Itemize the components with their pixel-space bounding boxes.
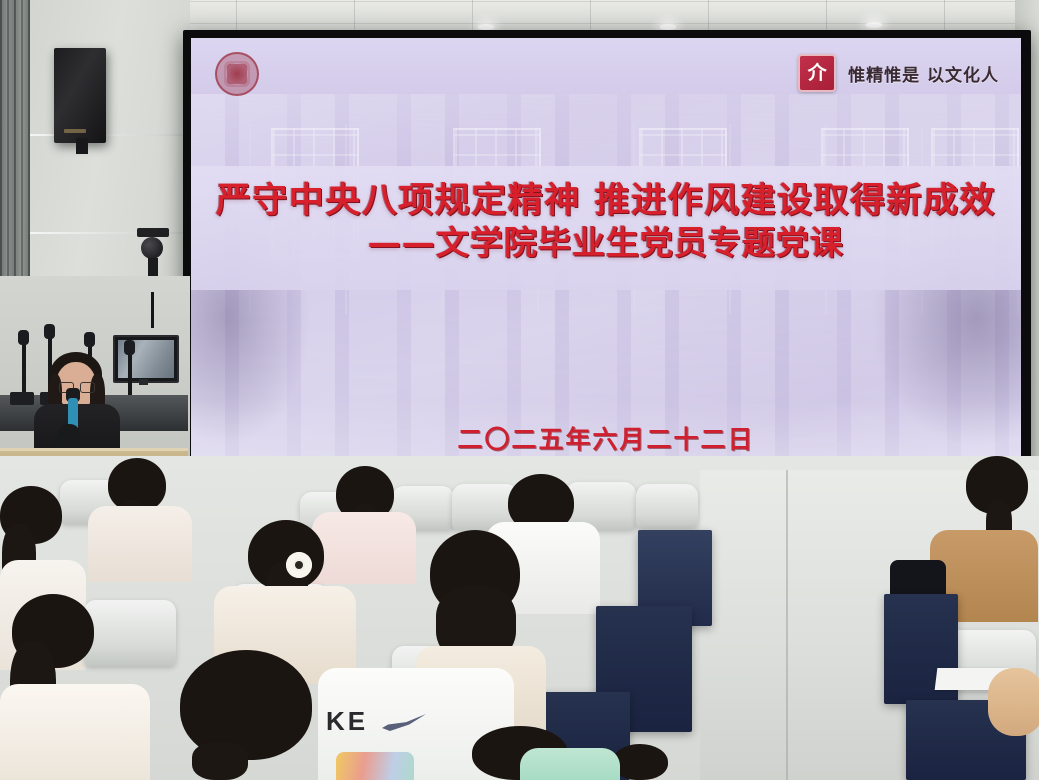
- audience-body: [88, 506, 192, 582]
- red-square-seal-icon: 介: [798, 54, 836, 92]
- wall-monitor-stand: [139, 379, 148, 385]
- microphone-base: [10, 392, 34, 405]
- loudspeaker-bracket: [76, 138, 88, 154]
- slide-brand: 介 惟精惟是 以文化人: [798, 54, 999, 92]
- microphone-head: [18, 330, 29, 345]
- antenna-icon: [151, 292, 154, 328]
- shirt-graphic: [336, 752, 414, 780]
- audience-hair: [192, 742, 248, 780]
- audience-arm: [988, 668, 1039, 736]
- microphone-head: [84, 332, 95, 347]
- university-emblem-icon: [215, 52, 259, 96]
- slide-title-line1: 严守中央八项规定精神 推进作风建设取得新成效: [191, 180, 1021, 223]
- camera-icon: [141, 237, 163, 259]
- wall-monitor-icon: [113, 335, 179, 383]
- led-screen-frame: 介 惟精惟是 以文化人 严守中央八项规定精神 推进作风建设取得新成效 ——文学院…: [183, 30, 1031, 508]
- audience-head: [612, 744, 668, 780]
- slide-title: 严守中央八项规定精神 推进作风建设取得新成效 ——文学院毕业生党员专题党课: [191, 180, 1021, 264]
- flower-hairclip: [286, 552, 312, 578]
- chair: [84, 600, 176, 666]
- gooseneck-microphone: [22, 338, 26, 400]
- loudspeaker-icon: [54, 48, 106, 143]
- photo-scene: 介 惟精惟是 以文化人 严守中央八项规定精神 推进作风建设取得新成效 ——文学院…: [0, 0, 1039, 780]
- emblem-center: [227, 64, 247, 84]
- nike-shirt-text: KE: [326, 706, 368, 737]
- microphone-head: [124, 340, 135, 355]
- microphone-head: [44, 324, 55, 339]
- camera-mount: [137, 228, 169, 237]
- led-screen: 介 惟精惟是 以文化人 严守中央八项规定精神 推进作风建设取得新成效 ——文学院…: [191, 38, 1021, 497]
- audience-body: [312, 512, 416, 584]
- slide-title-line2: ——文学院毕业生党员专题党课: [191, 223, 1021, 264]
- ceiling-downlight: [866, 22, 882, 28]
- slide-slogan: 惟精惟是 以文化人: [848, 61, 999, 86]
- audience-body: [520, 748, 620, 780]
- audience-body: [0, 684, 150, 780]
- gooseneck-microphone: [128, 348, 132, 398]
- audience-head: [180, 650, 312, 760]
- chair: [636, 484, 698, 528]
- slide-date: 二〇二五年六月二十二日: [191, 420, 1021, 456]
